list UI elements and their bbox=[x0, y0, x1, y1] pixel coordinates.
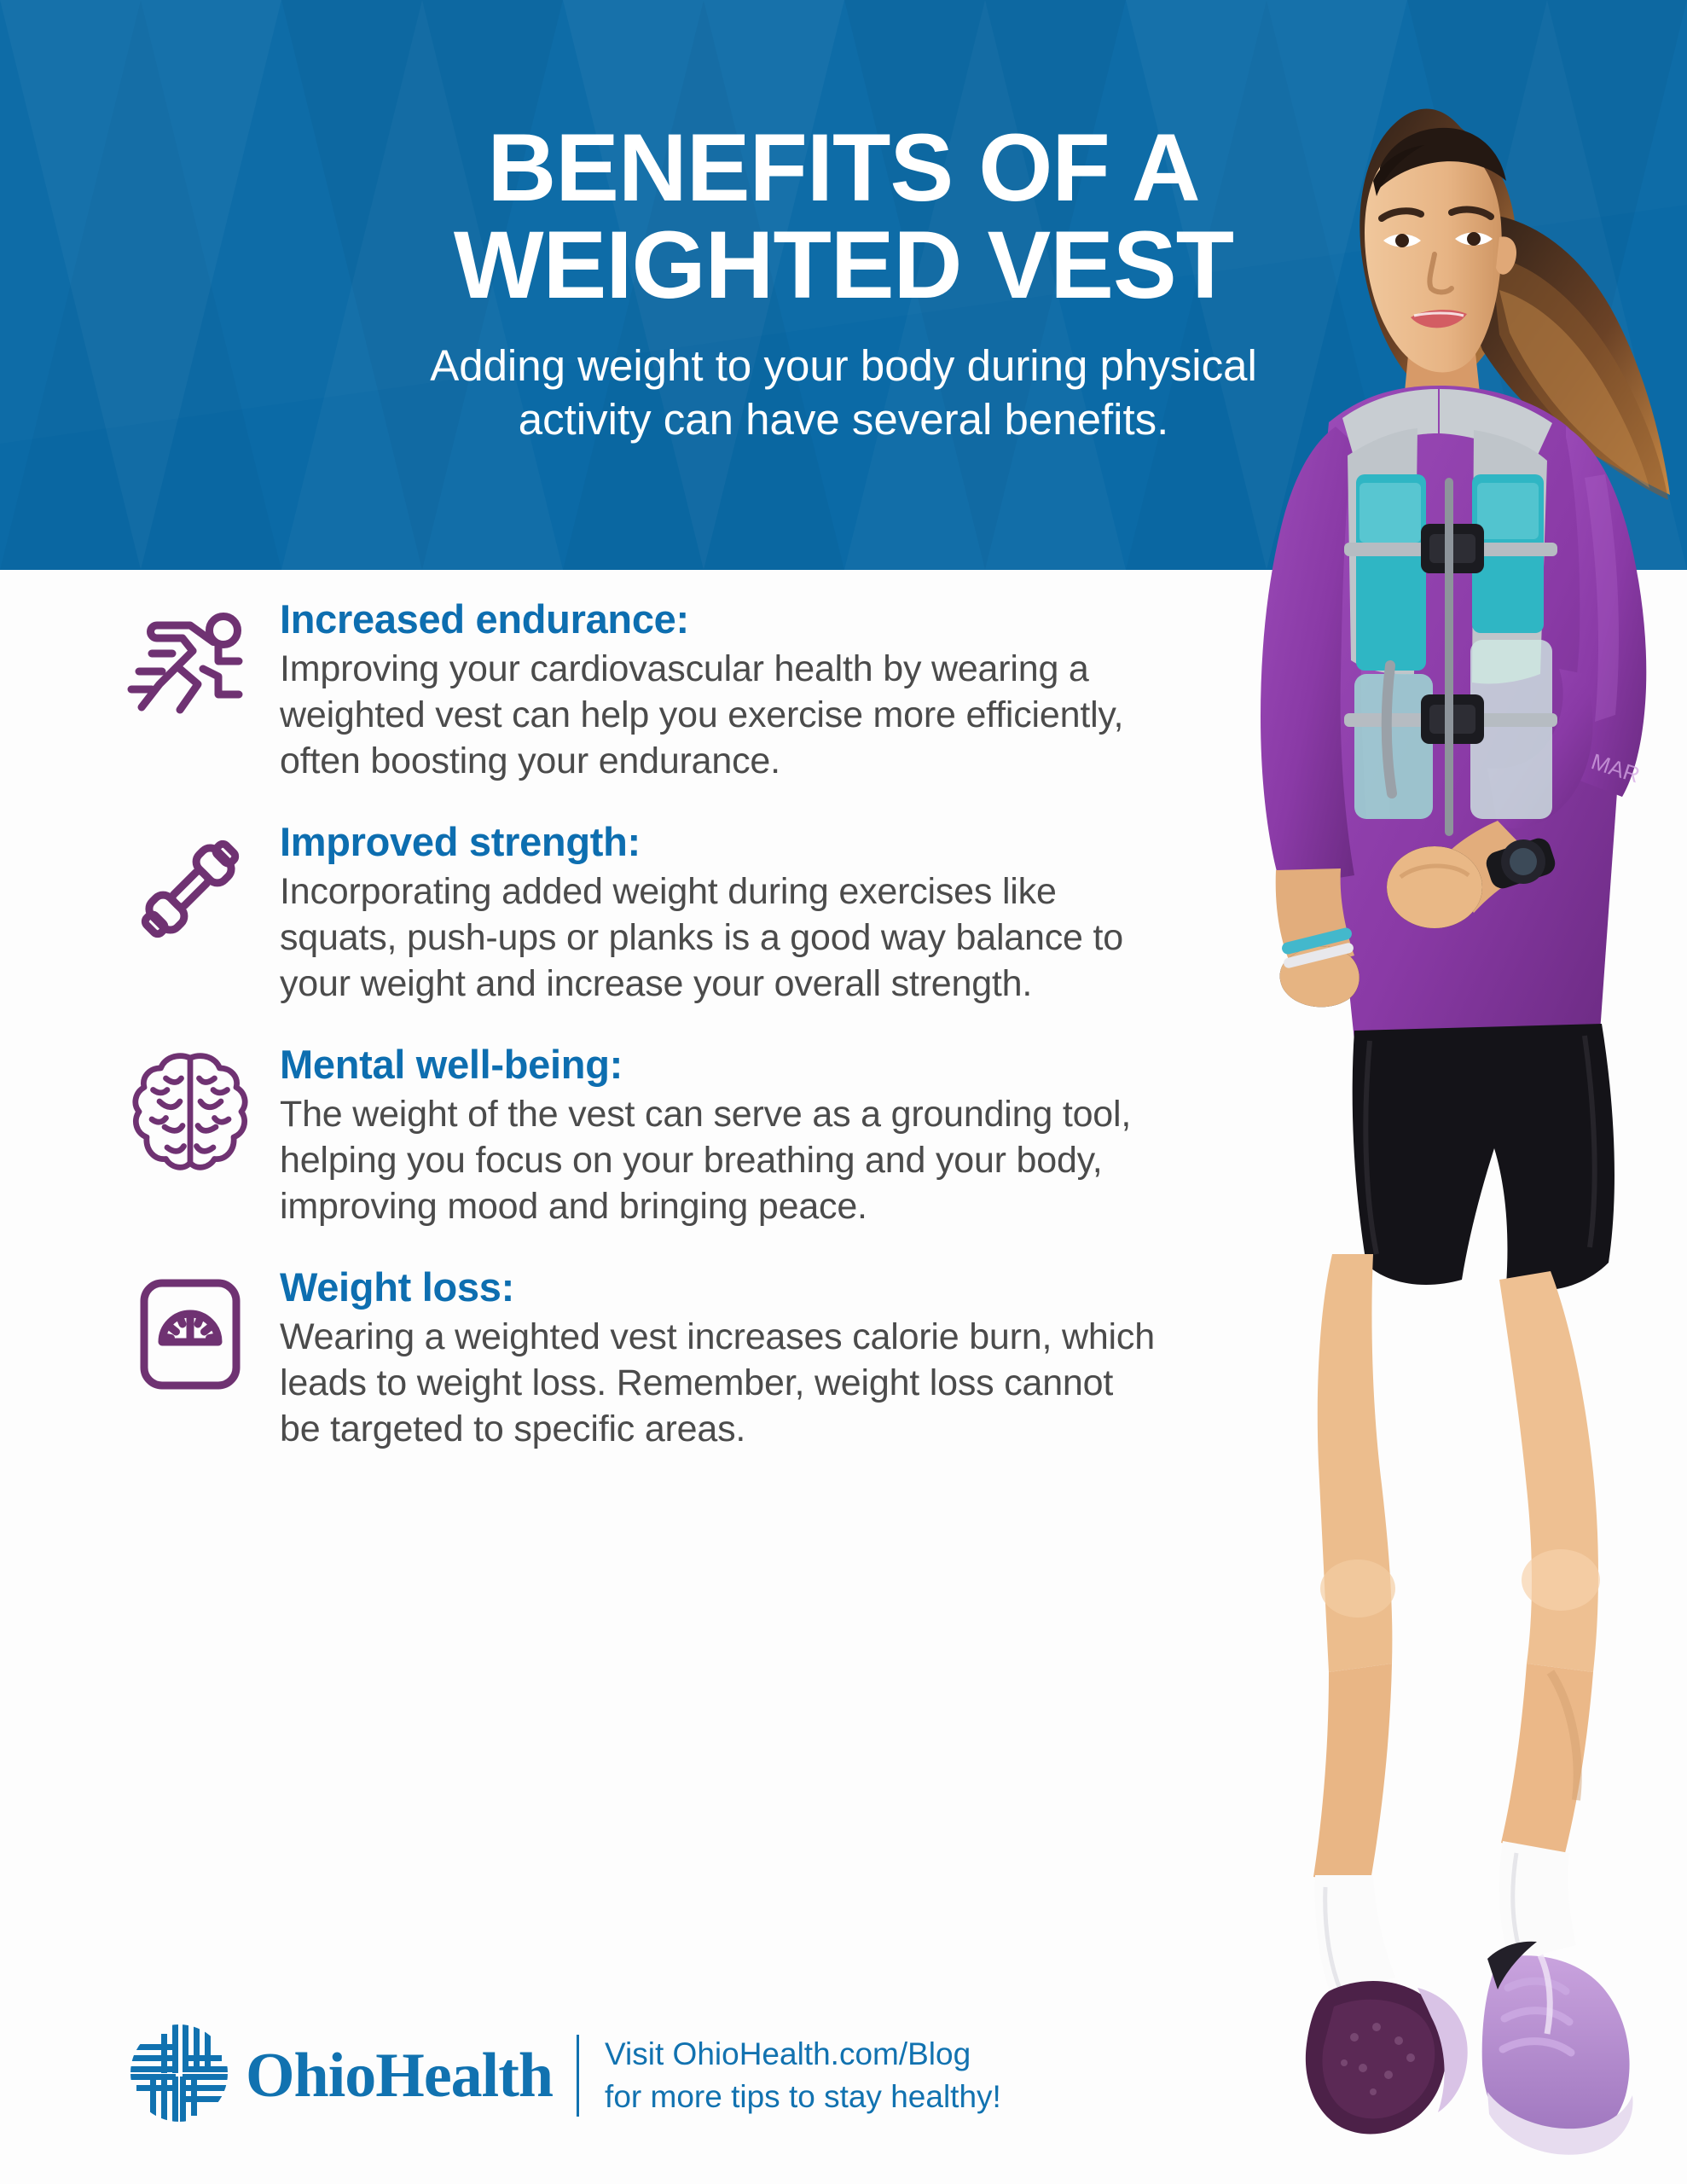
brain-icon bbox=[126, 1043, 280, 1176]
ohiohealth-logo-icon bbox=[128, 2022, 230, 2129]
runner-arms bbox=[1276, 821, 1558, 1007]
svg-text:MAR: MAR bbox=[1588, 748, 1643, 787]
benefit-text-strength: Improved strength: Incorporating added w… bbox=[280, 820, 1167, 1007]
benefit-text-weight-loss: Weight loss: Wearing a weighted vest inc… bbox=[280, 1265, 1167, 1452]
footer-divider bbox=[577, 2035, 579, 2117]
runner-legs bbox=[1313, 1254, 1600, 1885]
header-text-block: BENEFITS OF A WEIGHTED VEST Adding weigh… bbox=[0, 0, 1687, 446]
benefit-body: Wearing a weighted vest increases calori… bbox=[280, 1314, 1158, 1453]
page-subtitle: Adding weight to your body during physic… bbox=[0, 340, 1687, 445]
runner-shoes bbox=[1306, 1942, 1633, 2155]
benefit-title: Increased endurance: bbox=[280, 597, 1158, 642]
benefit-body: The weight of the vest can serve as a gr… bbox=[280, 1091, 1158, 1230]
benefit-title: Improved strength: bbox=[280, 820, 1158, 865]
brand-wordmark: OhioHealth bbox=[246, 2044, 553, 2107]
benefits-list: Increased endurance: Improving your card… bbox=[126, 597, 1167, 1453]
benefit-text-endurance: Increased endurance: Improving your card… bbox=[280, 597, 1167, 784]
infographic-page: BENEFITS OF A WEIGHTED VEST Adding weigh… bbox=[0, 0, 1687, 2184]
page-title: BENEFITS OF A WEIGHTED VEST bbox=[0, 119, 1687, 314]
benefit-title: Weight loss: bbox=[280, 1265, 1158, 1310]
bathroom-scale-icon bbox=[126, 1265, 280, 1398]
footer-cta[interactable]: Visit OhioHealth.com/Blog for more tips … bbox=[605, 2033, 1001, 2117]
header-banner: BENEFITS OF A WEIGHTED VEST Adding weigh… bbox=[0, 0, 1687, 570]
page-subtitle-line1: Adding weight to your body during physic… bbox=[430, 341, 1257, 390]
benefit-item-endurance: Increased endurance: Improving your card… bbox=[126, 597, 1167, 784]
benefit-body: Incorporating added weight during exerci… bbox=[280, 868, 1158, 1008]
page-title-line2: WEIGHTED VEST bbox=[0, 217, 1687, 314]
dumbbell-icon bbox=[126, 820, 280, 953]
benefit-title: Mental well-being: bbox=[280, 1043, 1158, 1088]
footer-cta-line1: Visit OhioHealth.com/Blog bbox=[605, 2036, 971, 2071]
benefit-item-strength: Improved strength: Incorporating added w… bbox=[126, 820, 1167, 1007]
footer-brand-bar: OhioHealth Visit OhioHealth.com/Blog for… bbox=[128, 2022, 1001, 2129]
page-title-line1: BENEFITS OF A bbox=[487, 114, 1199, 221]
benefit-body: Improving your cardiovascular health by … bbox=[280, 646, 1158, 785]
running-person-icon bbox=[126, 597, 280, 730]
footer-cta-line2: for more tips to stay healthy! bbox=[605, 2076, 1001, 2117]
benefit-item-mental-wellbeing: Mental well-being: The weight of the ves… bbox=[126, 1043, 1167, 1229]
page-subtitle-line2: activity can have several benefits. bbox=[0, 393, 1687, 446]
benefit-item-weight-loss: Weight loss: Wearing a weighted vest inc… bbox=[126, 1265, 1167, 1452]
runner-socks bbox=[1315, 1841, 1576, 1998]
runner-shorts bbox=[1353, 1024, 1615, 1291]
benefit-text-mental-wellbeing: Mental well-being: The weight of the ves… bbox=[280, 1043, 1167, 1229]
